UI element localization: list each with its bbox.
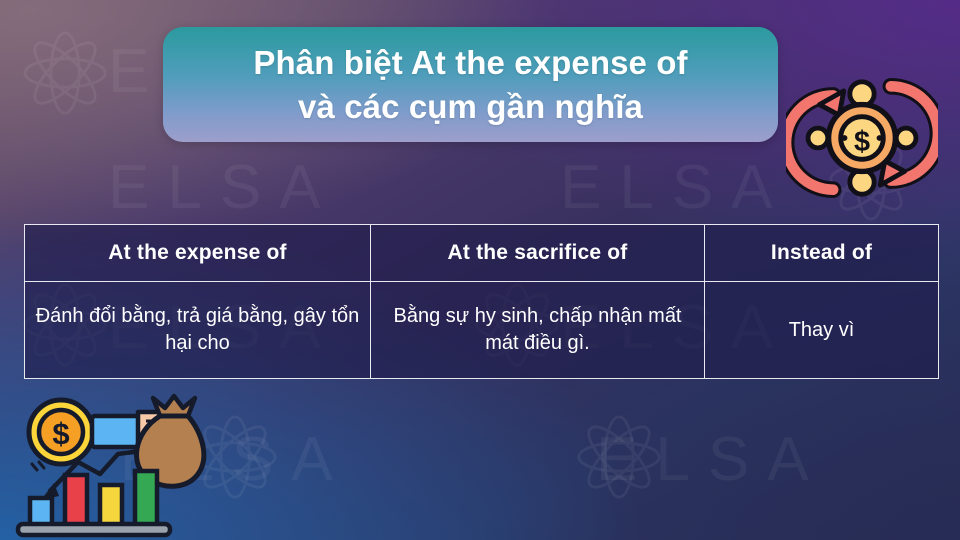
table-cell: Bằng sự hy sinh, chấp nhận mất mát điều … <box>371 282 705 379</box>
table-header-cell: At the expense of <box>25 225 371 282</box>
finance-decline-illustration: $ <box>8 388 213 540</box>
table-cell: Đánh đổi bằng, trả giá bằng, gây tổn hại… <box>25 282 371 379</box>
table-header-cell: At the sacrifice of <box>371 225 705 282</box>
page-title-line-2: và các cụm gần nghĩa <box>298 85 643 129</box>
page-title-line-1: Phân biệt At the expense of <box>253 41 687 85</box>
table-row: Đánh đổi bằng, trả giá bằng, gây tổn hại… <box>25 282 939 379</box>
svg-text:$: $ <box>854 126 870 158</box>
slide-canvas: ELSA ELSA ELSA ELSA ELSA ELSA ELSA ELSA <box>0 0 960 540</box>
watermark-elsa: ELSA <box>560 152 791 223</box>
table-cell: Thay vì <box>705 282 939 379</box>
watermark-elsa: ELSA <box>108 152 339 223</box>
watermark-star-icon <box>6 14 124 132</box>
watermark-star-icon <box>560 398 678 516</box>
money-cycle-icon: $ <box>786 62 938 214</box>
comparison-table: At the expense of At the sacrifice of In… <box>24 224 939 379</box>
page-title-banner: Phân biệt At the expense of và các cụm g… <box>163 27 778 142</box>
table-header-row: At the expense of At the sacrifice of In… <box>25 225 939 282</box>
svg-text:$: $ <box>52 416 69 451</box>
table-header-cell: Instead of <box>705 225 939 282</box>
watermark-elsa: ELSA <box>596 424 827 495</box>
